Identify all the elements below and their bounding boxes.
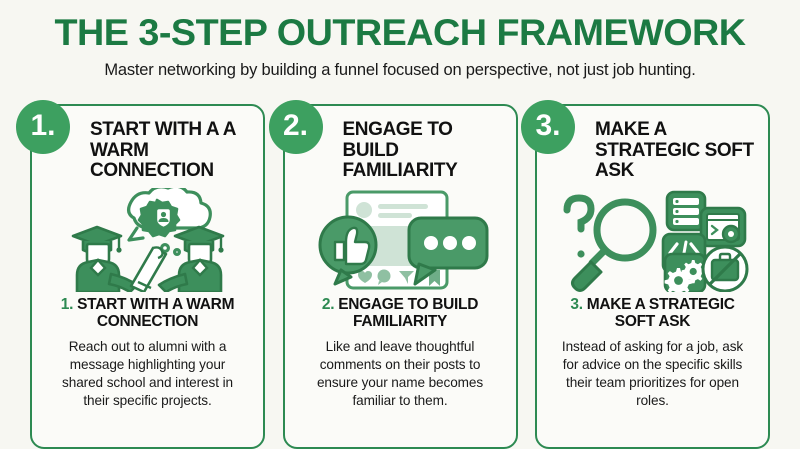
step-card-1[interactable]: 1. START WITH A A WARM CONNECTION	[30, 104, 265, 449]
step-heading-2: ENGAGE TO BUILD FAMILIARITY	[343, 120, 504, 186]
step-subtitle-text-3: MAKE A STRATEGIC SOFT ASK	[587, 296, 735, 330]
infographic-root: THE 3-STEP OUTREACH FRAMEWORK Master net…	[0, 0, 800, 443]
step-card-3[interactable]: 3. MAKE A STRATEGIC SOFT ASK	[535, 104, 770, 449]
step-number-badge-1: 1.	[16, 100, 70, 154]
page-subtitle: Master networking by building a funnel f…	[16, 61, 784, 80]
step-illustration-2	[295, 188, 506, 292]
step-heading-3: MAKE A STRATEGIC SOFT ASK	[595, 120, 756, 186]
step-subtitle-text-2: ENGAGE TO BUILD FAMILIARITY	[338, 296, 478, 330]
steps-container: 1. START WITH A A WARM CONNECTION	[0, 104, 800, 449]
soft-ask-illustration	[555, 188, 750, 292]
step-number-badge-2: 2.	[269, 100, 323, 154]
step-subtitle-number-3: 3.	[570, 296, 582, 313]
step-illustration-1	[42, 188, 253, 292]
step-body-2: Like and leave thoughtful comments on th…	[295, 338, 506, 410]
step-subtitle-1: 1. START WITH A WARM CONNECTION	[42, 296, 253, 331]
graduates-illustration	[53, 188, 243, 292]
step-subtitle-2: 2. ENGAGE TO BUILD FAMILIARITY	[295, 296, 506, 331]
step-body-1: Reach out to alumni with a message highl…	[42, 338, 253, 410]
no-briefcase-icon	[703, 247, 747, 291]
step-card-2[interactable]: 2. ENGAGE TO BUILD FAMILIARITY	[283, 104, 518, 449]
step-number-badge-3: 3.	[521, 100, 575, 154]
header: THE 3-STEP OUTREACH FRAMEWORK Master net…	[0, 0, 800, 80]
step-heading-1: START WITH A A WARM CONNECTION	[90, 120, 251, 186]
gears-icon	[665, 254, 705, 292]
step-subtitle-number-1: 1.	[61, 296, 73, 313]
step-subtitle-text-1: START WITH A WARM CONNECTION	[77, 296, 234, 330]
magnifying-glass-icon	[573, 202, 654, 291]
social-engagement-illustration	[305, 188, 495, 292]
terminal-gear-icon	[701, 208, 745, 246]
page-title: THE 3-STEP OUTREACH FRAMEWORK	[8, 14, 791, 52]
comment-icon	[378, 270, 391, 283]
server-stack-icon	[667, 192, 705, 230]
step-subtitle-number-2: 2.	[322, 296, 334, 313]
step-body-3: Instead of asking for a job, ask for adv…	[547, 338, 758, 410]
step-subtitle-3: 3. MAKE A STRATEGIC SOFT ASK	[547, 296, 758, 331]
question-mark-icon	[567, 198, 591, 258]
step-illustration-3	[547, 188, 758, 292]
